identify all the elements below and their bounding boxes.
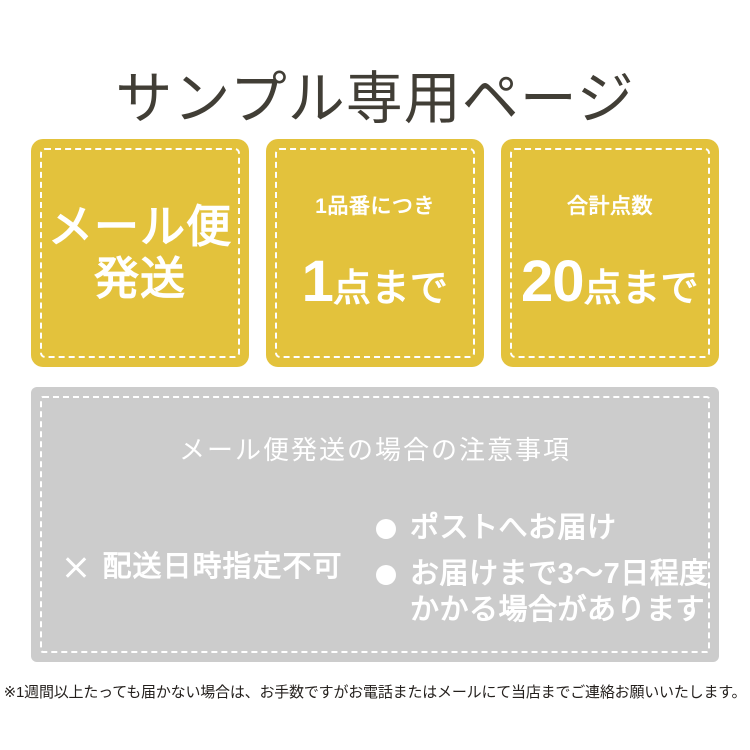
list-item-text: お届けまで3〜7日程度 かかる場合があります: [410, 556, 709, 628]
card-value-unit: 点まで: [584, 270, 700, 308]
card-content: 1品番につき 1 点まで: [266, 139, 484, 367]
feature-card-group: メール便 発送 1品番につき 1 点まで 合計点数 20 点まで: [31, 139, 719, 367]
card-line-secondary: 発送: [94, 253, 186, 305]
list-item: ポストへお届け: [376, 510, 719, 546]
card-mail-shipping: メール便 発送: [31, 139, 249, 367]
card-line-primary: メール便: [48, 201, 232, 253]
list-item-line-1: お届けまで3〜7日程度: [410, 558, 709, 590]
page-title: サンプル専用ページ: [0, 64, 750, 134]
notice-restriction-item: 配送日時指定不可: [64, 550, 342, 584]
bullet-dot-icon: [376, 565, 396, 585]
sample-shipping-info-banner: サンプル専用ページ メール便 発送 1品番につき 1 点まで: [0, 0, 750, 750]
card-value-number: 20: [521, 253, 584, 311]
list-item-line-2: かかる場合があります: [410, 592, 709, 628]
notice-heading: メール便発送の場合の注意事項: [31, 435, 719, 465]
notice-column-left: 配送日時指定不可: [31, 502, 376, 632]
list-item-line-1: ポストへお届け: [410, 512, 617, 544]
notice-panel: メール便発送の場合の注意事項 配送日時指定不可 ポストへお届け: [31, 387, 719, 662]
card-total-quantity-limit: 合計点数 20 点まで: [501, 139, 719, 367]
card-content: 合計点数 20 点まで: [501, 139, 719, 367]
list-item-text: ポストへお届け: [410, 510, 617, 546]
card-value-unit: 点まで: [333, 270, 449, 308]
footnote: ※1週間以上たっても届かない場合は、お手数ですがお電話またはメールにて当店までご…: [0, 683, 750, 703]
list-item: お届けまで3〜7日程度 かかる場合があります: [376, 556, 719, 628]
card-content: メール便 発送: [31, 139, 249, 367]
card-caption: 1品番につき: [315, 195, 435, 219]
notice-restriction-label: 配送日時指定不可: [102, 550, 342, 584]
card-value: 20 点まで: [521, 253, 699, 311]
card-value: 1 点まで: [302, 253, 449, 311]
card-value-number: 1: [302, 253, 333, 311]
x-mark-icon: [64, 555, 88, 579]
notice-body: 配送日時指定不可 ポストへお届け お届けまで3〜7日程度 かかる場合があります: [31, 502, 719, 642]
notice-column-right: ポストへお届け お届けまで3〜7日程度 かかる場合があります: [376, 502, 719, 638]
bullet-dot-icon: [376, 519, 396, 539]
card-caption: 合計点数: [567, 195, 653, 219]
card-per-item-limit: 1品番につき 1 点まで: [266, 139, 484, 367]
